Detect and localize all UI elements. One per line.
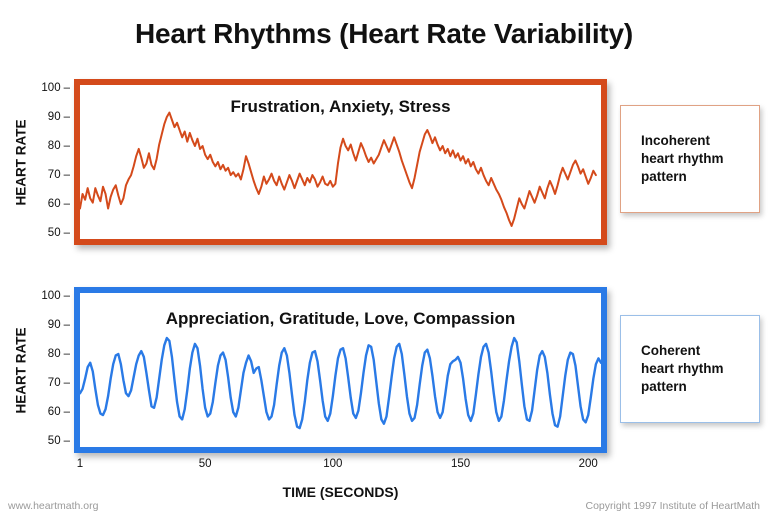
y-tick-60: 60– xyxy=(48,406,70,418)
x-tick-200: 200 xyxy=(579,458,598,470)
y-tick-100: 100– xyxy=(41,290,70,302)
page-title: Heart Rhythms (Heart Rate Variability) xyxy=(0,18,768,50)
footer-copyright: Copyright 1997 Institute of HeartMath xyxy=(585,500,760,512)
y-tick-80: 80– xyxy=(48,348,70,360)
x-tick-50: 50 xyxy=(199,458,212,470)
y-axis-label-bottom: HEART RATE xyxy=(14,321,29,421)
y-tick-90: 90– xyxy=(48,111,70,123)
x-tick-100: 100 xyxy=(323,458,342,470)
note-text-coherent: Coherent heart rhythm pattern xyxy=(621,342,724,397)
y-tick-90: 90– xyxy=(48,319,70,331)
y-tick-50: 50– xyxy=(48,435,70,447)
y-tick-80: 80– xyxy=(48,140,70,152)
footer-website: www.heartmath.org xyxy=(8,500,98,512)
coherent-heart-rhythm-trace xyxy=(80,338,601,428)
chart-panel-incoherent: Frustration, Anxiety, Stress xyxy=(74,79,607,245)
incoherent-heart-rhythm-trace xyxy=(80,113,596,226)
y-tick-100: 100– xyxy=(41,82,70,94)
y-axis-label-top: HEART RATE xyxy=(14,113,29,213)
chart-panel-coherent: Appreciation, Gratitude, Love, Compassio… xyxy=(74,287,607,453)
chart-caption-incoherent: Frustration, Anxiety, Stress xyxy=(74,97,607,117)
note-box-coherent: Coherent heart rhythm pattern xyxy=(620,315,760,423)
y-tick-70: 70– xyxy=(48,377,70,389)
y-tick-60: 60– xyxy=(48,198,70,210)
note-text-incoherent: Incoherent heart rhythm pattern xyxy=(621,132,724,187)
y-tick-70: 70– xyxy=(48,169,70,181)
x-axis: 150100150200 xyxy=(74,458,607,476)
y-tick-50: 50– xyxy=(48,227,70,239)
x-tick-150: 150 xyxy=(451,458,470,470)
x-axis-label: TIME (SECONDS) xyxy=(74,484,607,500)
chart-caption-coherent: Appreciation, Gratitude, Love, Compassio… xyxy=(74,309,607,329)
note-box-incoherent: Incoherent heart rhythm pattern xyxy=(620,105,760,213)
x-tick-1: 1 xyxy=(77,458,83,470)
